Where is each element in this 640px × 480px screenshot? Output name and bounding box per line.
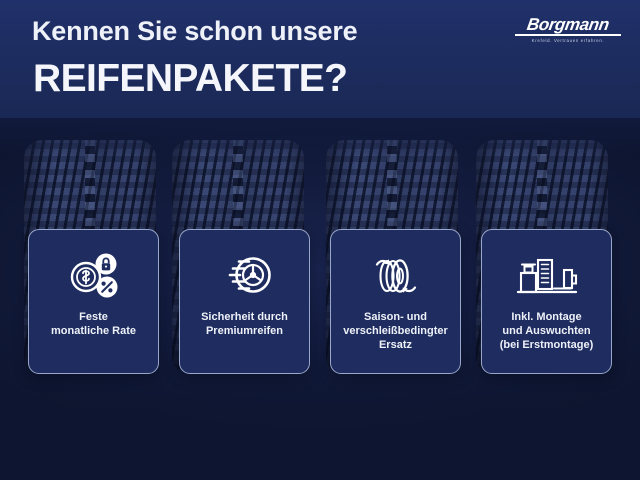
feature-card-row: Feste monatliche Rate Sicherheit durch P… — [0, 229, 640, 374]
tire-background-stage: Feste monatliche Rate Sicherheit durch P… — [0, 118, 640, 480]
logo-wordmark: Borgmann — [513, 16, 624, 33]
headline-line-2: REIFENPAKETE? — [33, 57, 347, 101]
feature-card-label: Inkl. Montage und Auswuchten (bei Erstmo… — [494, 310, 600, 352]
logo-tagline: Krefeld. Vertrauen erfahren. — [514, 38, 622, 44]
coin-lock-percent-icon — [29, 246, 158, 304]
header-banner: Kennen Sie schon unsere REIFENPAKETE? Bo… — [0, 0, 640, 118]
feature-card-label: Feste monatliche Rate — [45, 310, 142, 338]
tire-mounting-machine-icon — [482, 246, 611, 304]
headline-line-1: Kennen Sie schon unsere — [32, 16, 358, 47]
feature-card-feste-monatliche-rate[interactable]: Feste monatliche Rate — [28, 229, 159, 374]
borgmann-logo[interactable]: Borgmann Krefeld. Vertrauen erfahren. — [514, 16, 622, 50]
feature-card-label: Sicherheit durch Premiumreifen — [195, 310, 294, 338]
logo-divider — [515, 34, 621, 36]
feature-card-saison-und-verschleissbedingter-ersatz[interactable]: Saison- und verschleißbedingter Ersatz — [330, 229, 461, 374]
feature-card-inkl-montage-und-auswuchten[interactable]: Inkl. Montage und Auswuchten (bei Erstmo… — [481, 229, 612, 374]
speeding-wheel-icon — [180, 246, 309, 304]
top-fade-overlay — [0, 118, 640, 158]
feature-card-sicherheit-durch-premiumreifen[interactable]: Sicherheit durch Premiumreifen — [179, 229, 310, 374]
stacked-tires-rotation-icon — [331, 246, 460, 304]
feature-card-label: Saison- und verschleißbedingter Ersatz — [337, 310, 454, 352]
